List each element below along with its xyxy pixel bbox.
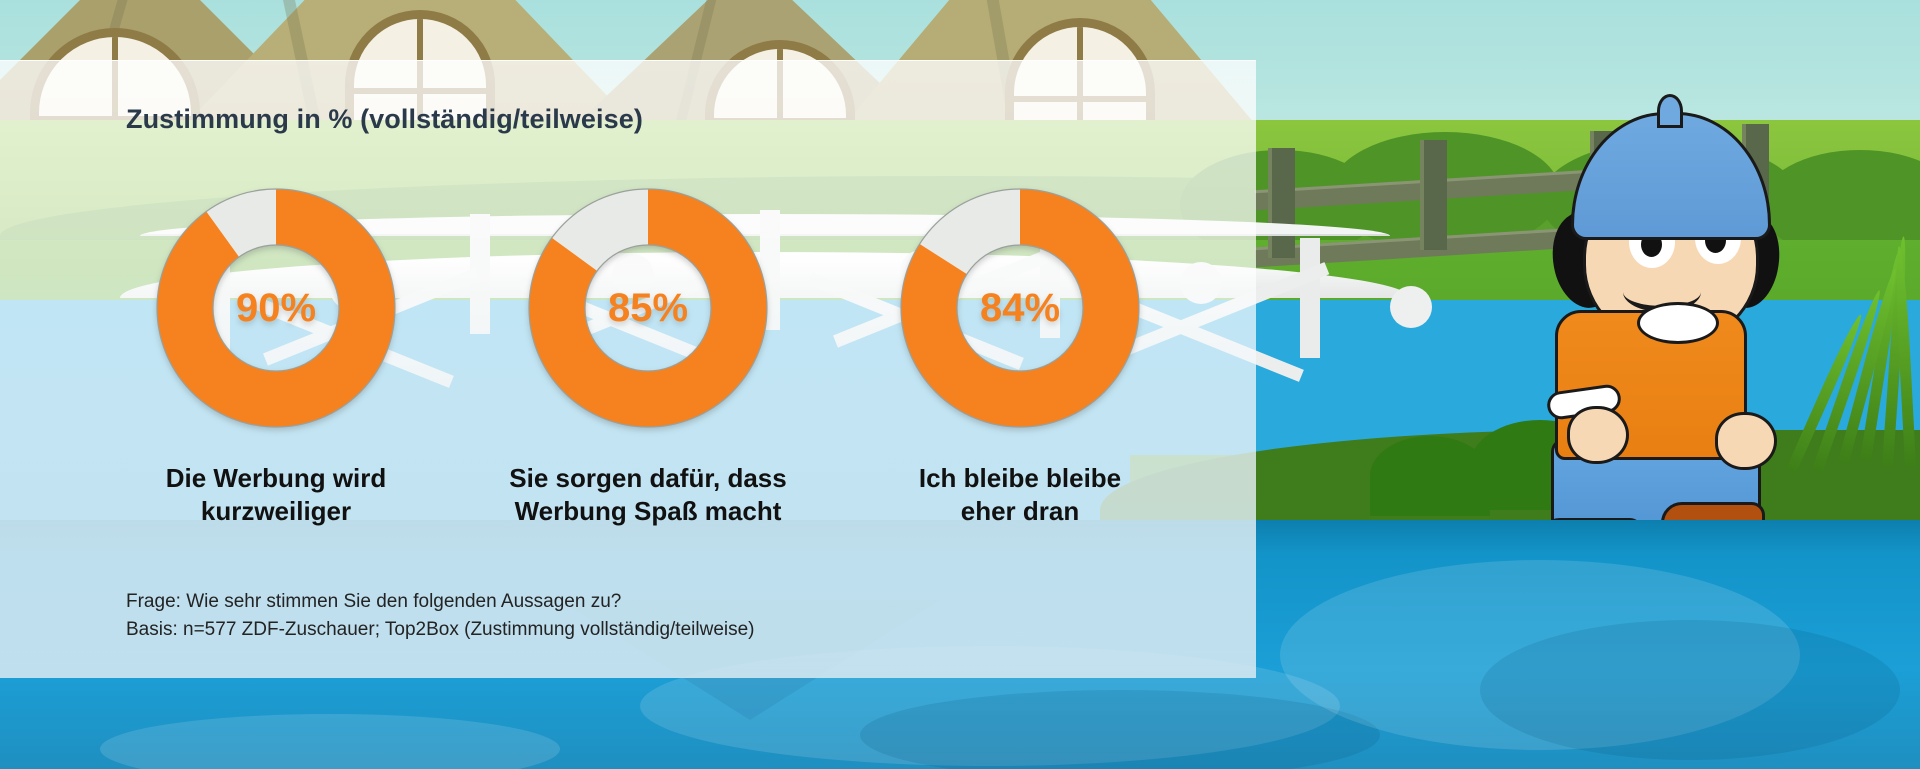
donut-label-1: Die Werbung wird kurzweiliger	[166, 462, 387, 528]
donut-chart-group: 90% Die Werbung wird kurzweiliger 85% Si…	[126, 188, 1196, 528]
donut-chart-1: 90%	[156, 188, 396, 428]
fence-post	[1268, 148, 1295, 258]
water-ripple	[1480, 620, 1900, 760]
chart-panel: Zustimmung in % (vollständig/teilweise) …	[0, 60, 1256, 678]
footnote-basis: Basis: n=577 ZDF-Zuschauer; Top2Box (Zus…	[126, 616, 755, 644]
donut-chart-item: 90% Die Werbung wird kurzweiliger	[126, 188, 426, 528]
boy-hand	[1715, 412, 1777, 470]
donut-label-2: Sie sorgen dafür, dass Werbung Spaß mach…	[509, 462, 786, 528]
donut-value-1: 90%	[156, 188, 396, 428]
donut-value-2: 85%	[528, 188, 768, 428]
donut-chart-3: 84%	[900, 188, 1140, 428]
fence-post	[1420, 140, 1447, 250]
cartoon-boy-character	[1545, 120, 1805, 510]
bridge-pillar	[1300, 238, 1320, 358]
screenshot-root: Zustimmung in % (vollständig/teilweise) …	[0, 0, 1920, 769]
donut-value-3: 84%	[900, 188, 1140, 428]
page-title: Zustimmung in % (vollständig/teilweise)	[126, 104, 643, 135]
donut-chart-item: 85% Sie sorgen dafür, dass Werbung Spaß …	[498, 188, 798, 528]
boy-beanie	[1571, 112, 1771, 240]
bridge-knob	[1390, 286, 1432, 328]
donut-chart-item: 84% Ich bleibe bleibe eher dran	[870, 188, 1170, 528]
footnote-question: Frage: Wie sehr stimmen Sie den folgende…	[126, 588, 755, 616]
boy-beanie-tip	[1657, 94, 1683, 128]
boy-hand	[1567, 406, 1629, 464]
reed-clump	[1370, 436, 1490, 516]
footnote: Frage: Wie sehr stimmen Sie den folgende…	[126, 588, 755, 643]
boy-collar	[1637, 302, 1719, 344]
donut-label-3: Ich bleibe bleibe eher dran	[919, 462, 1121, 528]
donut-chart-2: 85%	[528, 188, 768, 428]
